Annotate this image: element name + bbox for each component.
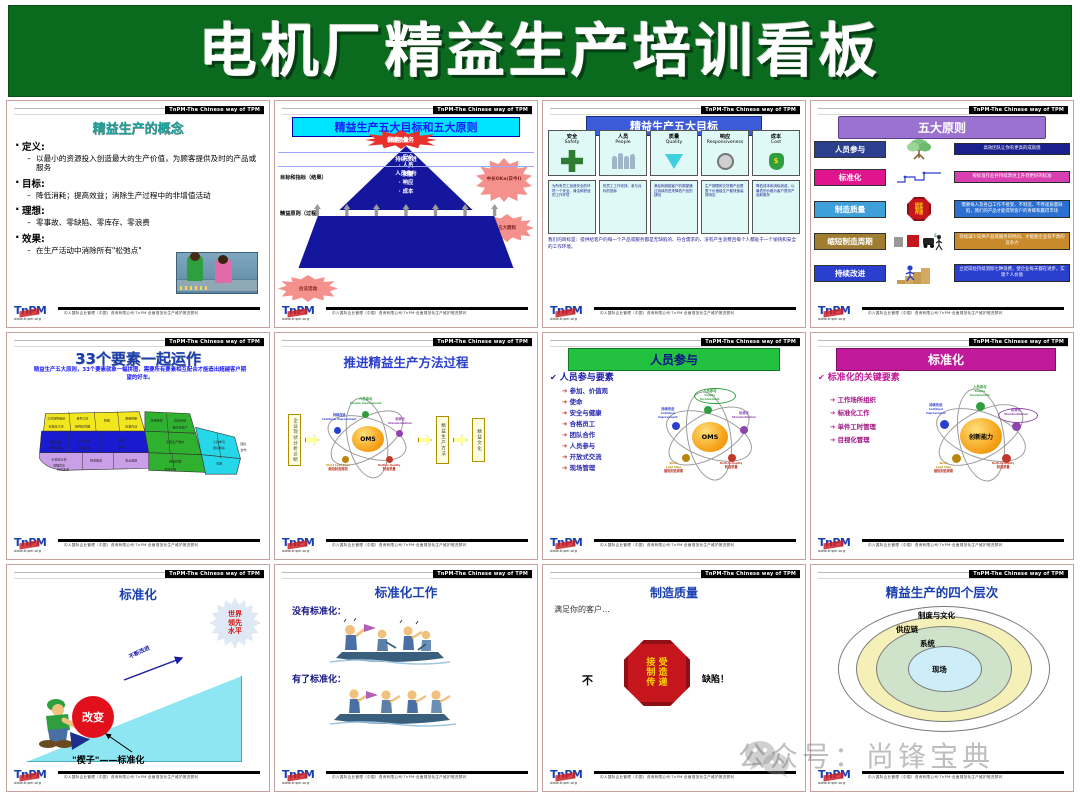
people-items-list: 参加、价值观 使命 安全与健康 合格员工 团队合作 人员参与 开放式交流 现场管… [562,386,608,474]
svg-text:培训体系: 培训体系 [213,445,225,450]
footer-note: 中人国际企业管理（中国）咨询有限公司·TnPM·全面规范化生产维护推进顾问 [332,543,467,548]
node-label-people: 人员参与PeopleInvolvement [970,386,990,398]
stop-sign-icon: 接受制造传递 [886,199,952,219]
slide-footer: 中人国际企业管理（中国）咨询有限公司·TnPM·全面规范化生产维护推进顾问 Tn… [818,531,1066,553]
ring-label-system: 系统 [920,638,935,649]
svg-text:拉动系统: 拉动系统 [174,417,186,422]
slide-body: 定义: 以最小的资源投入创造最大的生产价值，为顾客提供及时的产品或服务 目标: … [16,136,260,298]
svg-text:人员参与: 人员参与 [213,439,225,444]
slide-built-in-quality[interactable]: TnPM-The Chinese way of TPM 制造质量 满足你的客户…… [542,564,806,792]
flow-box-right: 精益文化 [472,418,485,462]
svg-text:防错: 防错 [104,417,110,422]
list-item: 工作场所组织 [830,394,876,407]
principle-row-3: 人员参与 [278,166,534,177]
node-people [362,411,369,418]
aligned-boat-image [330,684,456,734]
bullet-head: 目标: [22,176,260,190]
node-improvement [672,422,680,430]
svg-text:标准作业: 标准作业 [125,423,137,428]
footer-note: 中人国际企业管理（中国）咨询有限公司·TnPM·全面规范化生产维护推进顾问 [600,775,735,780]
node-label-standardization: 标准化Standardization [388,418,412,425]
tnpm-tag: TnPM-The Chinese way of TPM [165,106,264,114]
world-class-burst: 世界 领先 水平 [210,598,260,648]
principle-row-improvement: 持续改进 立足岗位持续消除七种浪费，使企业每天都在进步，实现个人价值 [814,260,1070,286]
footer-note: 中人国际企业管理（中国）咨询有限公司·TnPM·全面规范化生产维护推进顾问 [868,775,1003,780]
goal-en: Cost [753,140,799,145]
principle-label: 缩短制造周期 [814,233,886,250]
node-label-quality: Built-In-Quality制造质量 [720,462,742,470]
flow-arrow-icon [305,435,319,445]
flow-box-mid: 精益生产方法 [436,416,449,464]
svg-text:团队: 团队 [240,441,246,446]
svg-text:标准化工作: 标准化工作 [49,423,64,428]
slide-standardized-work[interactable]: TnPM-The Chinese way of TPM 标准化工作 没有标准化： [274,564,538,792]
tnpm-logo: TnPM www.tnpm.org [818,305,860,321]
tnpm-tag: TnPM-The Chinese way of TPM [969,570,1068,578]
slide-header: TnPM-The Chinese way of TPM [818,570,1068,581]
defect-label: 缺陷！ [702,672,729,685]
node-leadtime [342,456,349,463]
section-heading: 人员参与要素 [550,370,614,383]
tnpm-logo: TnPM www.tnpm.org [282,305,324,321]
arrow-row [314,204,498,216]
principle-text: 按标准作业并持续改进上升到更好的标准 [954,171,1070,183]
principle-item: 标准化 [336,136,352,144]
node-label-improvement: 持续改进ContinualImprovement [926,404,946,416]
footer-note: 中人国际企业管理（中国）咨询有限公司·TnPM·全面规范化生产维护推进顾问 [64,775,199,780]
no-label: 不 [582,672,593,688]
slide-standardization-wedge[interactable]: TnPM-The Chinese way of TPM 标准化 世界 领先 水平… [6,564,270,792]
elements-note: 精益生产五大原则，33个要素就象一幅拼图，需要所有要素相互配合才能造出超越客户期… [32,366,248,382]
logo-url: www.tnpm.org [282,317,324,321]
tnpm-tag: TnPM-The Chinese way of TPM [701,338,800,346]
principle-row-quality: 制造质量 接受制造传递 需要每人及各自工作不接受、不制造、不传递质量缺陷，我们的… [814,196,1070,222]
node-leadtime [682,454,690,462]
goal-descriptions: 为所有员工创造安全的环境一个安全、清洁和舒适的工作环境 知员工工作安排、参与对标… [548,180,800,234]
slide-footer: 中人国际企业管理（中国）咨询有限公司·TnPM·全面规范化生产维护推进顾问 Tn… [818,299,1066,321]
node-people [976,402,985,411]
goal-desc: 为所有员工创造安全的环境一个安全、清洁和舒适的工作环境 [548,180,596,234]
goal-card-people: 人员 People [599,130,647,176]
section-heading: 标准化的关键要素 [818,370,900,383]
logo-url: www.tnpm.org [282,549,324,553]
ring-label-culture: 制度与文化 [918,610,955,621]
atom-diagram: OMS 人员参与PeopleInvolvement 标准化Standardiza… [658,390,760,480]
flow-box-left: 企业现状分析诊断 [288,414,301,466]
footer-note: 中人国际企业管理（中国）咨询有限公司·TnPM·全面规范化生产维护推进顾问 [868,311,1003,316]
goal-card-quality: 质量 Quality [650,130,698,176]
stop-sign-icon: 接 受 制 造 传 递 [624,640,690,706]
slide-footer: 中人国际企业管理（中国）咨询有限公司·TnPM·全面规范化生产维护推进顾问 Tn… [14,299,262,321]
footer-note: 中人国际企业管理（中国）咨询有限公司·TnPM·全面规范化生产维护推进顾问 [64,311,199,316]
goal-desc: 知员工工作安排、参与对标的指标 [599,180,647,234]
goal-item: 响应 [278,179,534,187]
pyramid-base [298,216,513,268]
bullet-sub: 以最小的资源投入创造最大的生产价值，为顾客提供及时的产品或服务 [36,154,260,173]
principle-text: 立足岗位持续消除七种浪费，使企业每天都在进步，实现个人价值 [954,264,1070,281]
slide-header: TnPM-The Chinese way of TPM [282,338,532,349]
tnpm-logo: TnPM www.tnpm.org [550,537,592,553]
slide-header: TnPM-The Chinese way of TPM [550,570,800,581]
footer-note: 中人国际企业管理（中国）咨询有限公司·TnPM·全面规范化生产维护推进顾问 [332,775,467,780]
step-chart-icon [886,167,952,187]
node-improvement [334,427,341,434]
list-item: 合格员工 [562,419,608,430]
principle-text: 持续减少向供产品或服务的时间，才能使企业有不改的竞争力 [954,232,1070,249]
bullet-head: 理想: [22,203,260,217]
slide-title: 标准化 [10,584,266,603]
slide-five-principles[interactable]: TnPM-The Chinese way of TPM 五大原则 人员参与 高效… [810,100,1074,328]
goal-en: Safety [549,140,595,145]
standardization-items-list: 工作场所组织 标准化工作 单件工时管理 目视化管理 [830,394,876,448]
slide-title: 制造质量 [546,584,802,601]
logo-url: www.tnpm.org [818,317,860,321]
node-label-people: 人员参与People Involvement [350,398,381,406]
list-item: 团队合作 [562,430,608,441]
page-title: 电机厂精益生产培训看板 [199,22,881,80]
goal-card-safety: 安全 Safety [548,130,596,176]
tnpm-logo: TnPM www.tnpm.org [818,769,860,785]
bullet-sub: 降低消耗；提高效益；消除生产过程中的非增值活动 [36,191,260,200]
flow-arrow-icon [453,435,467,445]
node-label-improvement: 持续改进Continual Improvement [322,414,356,422]
lean-production-board: 电机厂精益生产培训看板 TnPM-The Chinese way of TPM … [0,0,1080,796]
slide-title: 标准化 [836,348,1056,371]
octagon-line: 制 造 [646,668,667,678]
goal-desc: 满足和超越客户的期望通过持续改进来降低产品的缺陷 [650,180,698,234]
list-item: 安全与健康 [562,408,608,419]
svg-text:准时化生产: 准时化生产 [172,424,187,429]
stairs-icon [886,263,952,283]
principle-text: 高效团队让你有更高的成就感 [954,143,1070,155]
svg-text:开放交流: 开放交流 [164,466,176,471]
footer-note: 中人国际企业管理（中国）咨询有限公司·TnPM·全面规范化生产维护推进顾问 [600,543,735,548]
up-arrow-icon [402,204,409,216]
slide-header: TnPM-The Chinese way of TPM [14,570,264,581]
principle-text: 需要每人及各自工作不接受、不制造、不传递质量缺陷，我们的产品才能得到客户的青睐和… [954,200,1070,217]
svg-text:现场管理: 现场管理 [169,458,181,463]
slides-grid: TnPM-The Chinese way of TPM 精益生产的概念 定义: … [6,100,1074,792]
node-label-standardization: 标准化Standardization [1004,409,1028,417]
tnpm-logo: TnPM www.tnpm.org [550,305,592,321]
clock-icon [702,149,748,173]
svg-text:广义改善: 广义改善 [78,438,90,443]
board-title-banner: 电机厂精益生产培训看板 [8,5,1072,97]
slide-33-elements[interactable]: TnPM-The Chinese way of TPM 33个要素一起运作 精益… [6,332,270,560]
ring-label-site: 现场 [932,664,947,675]
footer-note: 中人国际企业管理（中国）咨询有限公司·TnPM·全面规范化生产维护推进顾问 [600,311,735,316]
list-item: 单件工时管理 [830,421,876,434]
flow-arrow-icon [418,435,432,445]
svg-text:物流配送: 物流配送 [90,458,102,463]
principle-label: 人员参与 [814,141,886,158]
list-item: 目视化管理 [830,434,876,447]
slide-five-goals[interactable]: TnPM-The Chinese way of TPM 精益生产五大目标 安全 … [542,100,806,328]
slide-footer: 中人国际企业管理（中国）咨询有限公司·TnPM·全面规范化生产维护推进顾问 Tn… [550,531,798,553]
logo-url: www.tnpm.org [550,781,592,785]
burst-line3: 水平 [228,627,242,636]
ring-label-supply: 供应链 [896,624,918,635]
slide-title: 精益生产的四个层次 [814,582,1070,601]
principle-row-2: 持续改进 [278,152,534,163]
customer-text: 满足你的客户… [554,604,610,615]
slide-footer: 中人国际企业管理（中国）咨询有限公司·TnPM·全面规范化生产维护推进顾问 Tn… [14,763,262,785]
up-arrow-icon [432,204,439,216]
node-label-leadtime: Short Lead Time缩短制造周期 [326,464,350,472]
svg-text:全员改进: 全员改进 [78,445,90,450]
tnpm-logo: TnPM www.tnpm.org [550,769,592,785]
svg-text:持续改进: 持续改进 [57,466,69,471]
logo-url: www.tnpm.org [14,317,56,321]
slide-header: TnPM-The Chinese way of TPM [14,106,264,117]
goal-desc: 降低成本和消除浪费，以最低的价格为客户提供产品和服务 [752,180,800,234]
footer-note: 中人国际企业管理（中国）咨询有限公司·TnPM·全面规范化生产维护推进顾问 [64,543,199,548]
goal-card-responsiveness: 响应 Responsiveness [701,130,749,176]
slide-footer: 中人国际企业管理（中国）咨询有限公司·TnPM·全面规范化生产维护推进顾问 Tn… [818,763,1066,785]
goal-card-cost: 成本 Cost $ [752,130,800,176]
atom-core: OMS [692,422,728,452]
logo-url: www.tnpm.org [14,549,56,553]
node-quality [728,454,736,462]
octagon-line: 接 受 [646,658,667,668]
money-bag-icon: $ [753,149,799,173]
svg-text:目视化管理: 目视化管理 [75,423,90,428]
principle-label: 持续改进 [814,265,886,282]
svg-text:管理: 管理 [118,444,124,449]
tnpm-tag: TnPM-The Chinese way of TPM [433,106,532,114]
svg-text:$: $ [934,233,937,239]
atom-core: 创新能力 [960,418,1002,454]
goal-desc: 生产期限和交货期产品是整个价值链生产都快速高效响应 [701,180,749,234]
logo-url: www.tnpm.org [818,781,860,785]
goal-cards: 安全 Safety 人员 People 质量 Quality 响应 Respon… [548,130,800,176]
goal-cn: 质量 [651,133,697,140]
node-label-improvement: 持续改进ContinualImprovement [658,408,678,420]
principle-label: 制造质量 [814,201,886,218]
svg-text:单件工时: 单件工时 [76,415,88,420]
tnpm-tag: TnPM-The Chinese way of TPM [165,338,264,346]
logo-url: www.tnpm.org [550,549,592,553]
octagon-text: 接 受 制 造 传 递 [646,658,667,688]
up-arrow-icon [314,204,321,216]
goal-en: Responsiveness [702,140,748,145]
svg-text:安全健康: 安全健康 [125,458,137,463]
node-people [704,406,712,414]
tnpm-tag: TnPM-The Chinese way of TPM [433,338,532,346]
node-standardization [740,426,748,434]
principle-row-leadtime: 缩短制造周期 $ 持续减少向供产品或服务的时间，才能使企业有不改的竞争力 [814,228,1070,254]
goal-cn: 成本 [753,133,799,140]
node-label-leadtime: ShortLead Time缩短制造周期 [934,462,953,474]
slide-title: 精益生产的概念 [10,118,266,137]
tnpm-tag: TnPM-The Chinese way of TPM [433,570,532,578]
node-standardization [396,430,403,437]
slide-footer: 中人国际企业管理（中国）咨询有限公司·TnPM·全面规范化生产维护推进顾问 Tn… [282,531,530,553]
diamond-icon [651,149,697,173]
node-label-leadtime: ShortLead Time缩短制造周期 [664,462,683,474]
tnpm-logo: TnPM www.tnpm.org [282,769,324,785]
bullet-head: 效果: [22,231,260,245]
svg-text:快速换型: 快速换型 [151,417,163,422]
slide-concept[interactable]: TnPM-The Chinese way of TPM 精益生产的概念 定义: … [6,100,270,328]
svg-text:质量控制: 质量控制 [125,415,137,420]
principle-label: 标准化 [814,169,886,186]
list-item: 标准化工作 [830,407,876,420]
node-quality [386,456,393,463]
slide-header: TnPM-The Chinese way of TPM [282,106,532,117]
svg-text:目标: 目标 [118,437,124,442]
goal-cn: 人员 [600,133,646,140]
list-item: 现场管理 [562,463,608,474]
octagon-line: 传 递 [646,678,667,688]
tnpm-tag: TnPM-The Chinese way of TPM [701,106,800,114]
tnpm-logo: TnPM www.tnpm.org [14,305,56,321]
logo-url: www.tnpm.org [282,781,324,785]
list-item: 参加、价值观 [562,386,608,397]
goal-en: People [600,140,646,145]
node-label-people: 人员参与PeopleInvolvement [700,390,720,402]
list-item: 使命 [562,397,608,408]
slide-people-involvement[interactable]: TnPM-The Chinese way of TPM 人员参与 人员参与要素 … [542,332,806,560]
puzzle-car-diagram: 工作场所组织标准化工作 单件工时目视化管理 防错 质量控制标准作业 快速换型 拉… [24,398,258,484]
chaotic-boat-image [330,618,450,670]
node-improvement [940,420,949,429]
slide-footer: 中人国际企业管理（中国）咨询有限公司·TnPM·全面规范化生产维护推进顾问 Tn… [282,299,530,321]
slide-pyramid[interactable]: TnPM-The Chinese way of TPM 精益生产五大目标和五大原… [274,100,538,328]
slide-title: 五大原则 [838,116,1046,139]
pyramid-diagram: 顾客/业务 中长OKa(日今I) 五大原则 古法活动 目标和指标（结果） 精益原… [278,128,534,304]
node-label-quality: Built-In-Quality制造质量 [378,464,400,472]
bullet-sub: 零事故、零缺陷、零库存、零浪费 [36,218,260,227]
tnpm-tag: TnPM-The Chinese way of TPM [969,338,1068,346]
node-leadtime [952,454,961,463]
logo-url: www.tnpm.org [14,781,56,785]
principle-row-1: 标准化 制造质量 缩短制造周期 [278,136,534,144]
footer-note: 中人国际企业管理（中国）咨询有限公司·TnPM·全面规范化生产维护推进顾问 [868,543,1003,548]
tnpm-tag: TnPM-The Chinese way of TPM [165,570,264,578]
tnpm-logo: TnPM www.tnpm.org [14,769,56,785]
principle-row-people: 人员参与 高效团队让你有更高的成就感 [814,138,1070,160]
atom-core: OMS [352,426,384,452]
up-arrow-icon [373,204,380,216]
node-label-standardization: 标准化Standardization [732,412,756,420]
svg-text:沟通: 沟通 [216,460,222,465]
logo-url: www.tnpm.org [550,317,592,321]
goals-note: 我们的目标是：提供给客户的每一个产品或服务都是无缺陷的、符合需求的、没有产生浪费… [548,238,800,252]
tnpm-tag: TnPM-The Chinese way of TPM [701,570,800,578]
svg-text:价值流分析: 价值流分析 [52,457,67,462]
slide-title: 人员参与 [568,348,780,371]
principle-row-standardization: 标准化 按标准作业并持续改进上升到更好的标准 [814,166,1070,188]
slide-standardization-elements[interactable]: TnPM-The Chinese way of TPM 标准化 标准化的关键要素… [810,332,1074,560]
list-item: 人员参与 [562,441,608,452]
tnpm-logo: TnPM www.tnpm.org [818,537,860,553]
slide-footer: 中人国际企业管理（中国）咨询有限公司·TnPM·全面规范化生产维护推进顾问 Tn… [550,763,798,785]
atom-diagram: OMS 人员参与People Involvement 标准化Standardiz… [322,398,412,478]
goal-en: Quality [651,140,697,145]
node-label-quality: Built-In-Quality制造质量 [992,462,1014,470]
bullet-head: 定义: [22,139,260,153]
svg-text:工作场所组织: 工作场所组织 [47,415,65,420]
up-arrow-icon [343,204,350,216]
tnpm-tag: TnPM-The Chinese way of TPM [969,106,1068,114]
truck-icon: $ [886,231,952,251]
node-standardization [1012,422,1021,431]
tree-icon [886,139,952,159]
workers-photo [176,252,258,294]
slide-title: 推进精益生产方法过程 [278,352,534,371]
svg-text:问题解决: 问题解决 [50,445,62,450]
atom-diagram: 创新能力 人员参与PeopleInvolvement 标准化Standardiz… [926,386,1036,482]
slide-header: TnPM-The Chinese way of TPM [282,570,532,581]
goal-cn: 响应 [702,133,748,140]
principle-item: 缩短制造周期 [443,136,475,144]
goal-item: 成本 [278,188,534,196]
left-star: 古法活动 [278,275,338,302]
up-arrow-icon [462,204,469,216]
goal-cn: 安全 [549,133,595,140]
svg-text:全员生产维护: 全员生产维护 [166,439,184,444]
up-arrow-icon [491,204,498,216]
burst-line1: 世界 [228,610,242,619]
label-without-standard: 没有标准化： [292,604,346,617]
logo-url: www.tnpm.org [818,549,860,553]
slide-title: 标准化工作 [278,582,534,601]
slide-four-levels[interactable]: TnPM-The Chinese way of TPM 精益生产的四个层次 制度… [810,564,1074,792]
tnpm-logo: TnPM www.tnpm.org [282,537,324,553]
green-cross-icon [549,149,595,173]
slide-method-process[interactable]: TnPM-The Chinese way of TPM 推进精益生产方法过程 企… [274,332,538,560]
slide-footer: 中人国际企业管理（中国）咨询有限公司·TnPM·全面规范化生产维护推进顾问 Tn… [14,531,262,553]
improvement-arrow-icon [122,654,192,684]
footer-note: 中人国际企业管理（中国）咨询有限公司·TnPM·全面规范化生产维护推进顾问 [332,311,467,316]
tnpm-logo: TnPM www.tnpm.org [14,537,56,553]
svg-text:合作: 合作 [240,447,246,452]
list-item: 开放式交流 [562,452,608,463]
people-group-icon [600,149,646,173]
svg-text:持续改进: 持续改进 [50,439,62,444]
principle-item: 制造质量 [387,136,409,144]
slide-footer: 中人国际企业管理（中国）咨询有限公司·TnPM·全面规范化生产维护推进顾问 Tn… [282,763,530,785]
slide-footer: 中人国际企业管理（中国）咨询有限公司·TnPM·全面规范化生产维护推进顾问 Tn… [550,299,798,321]
